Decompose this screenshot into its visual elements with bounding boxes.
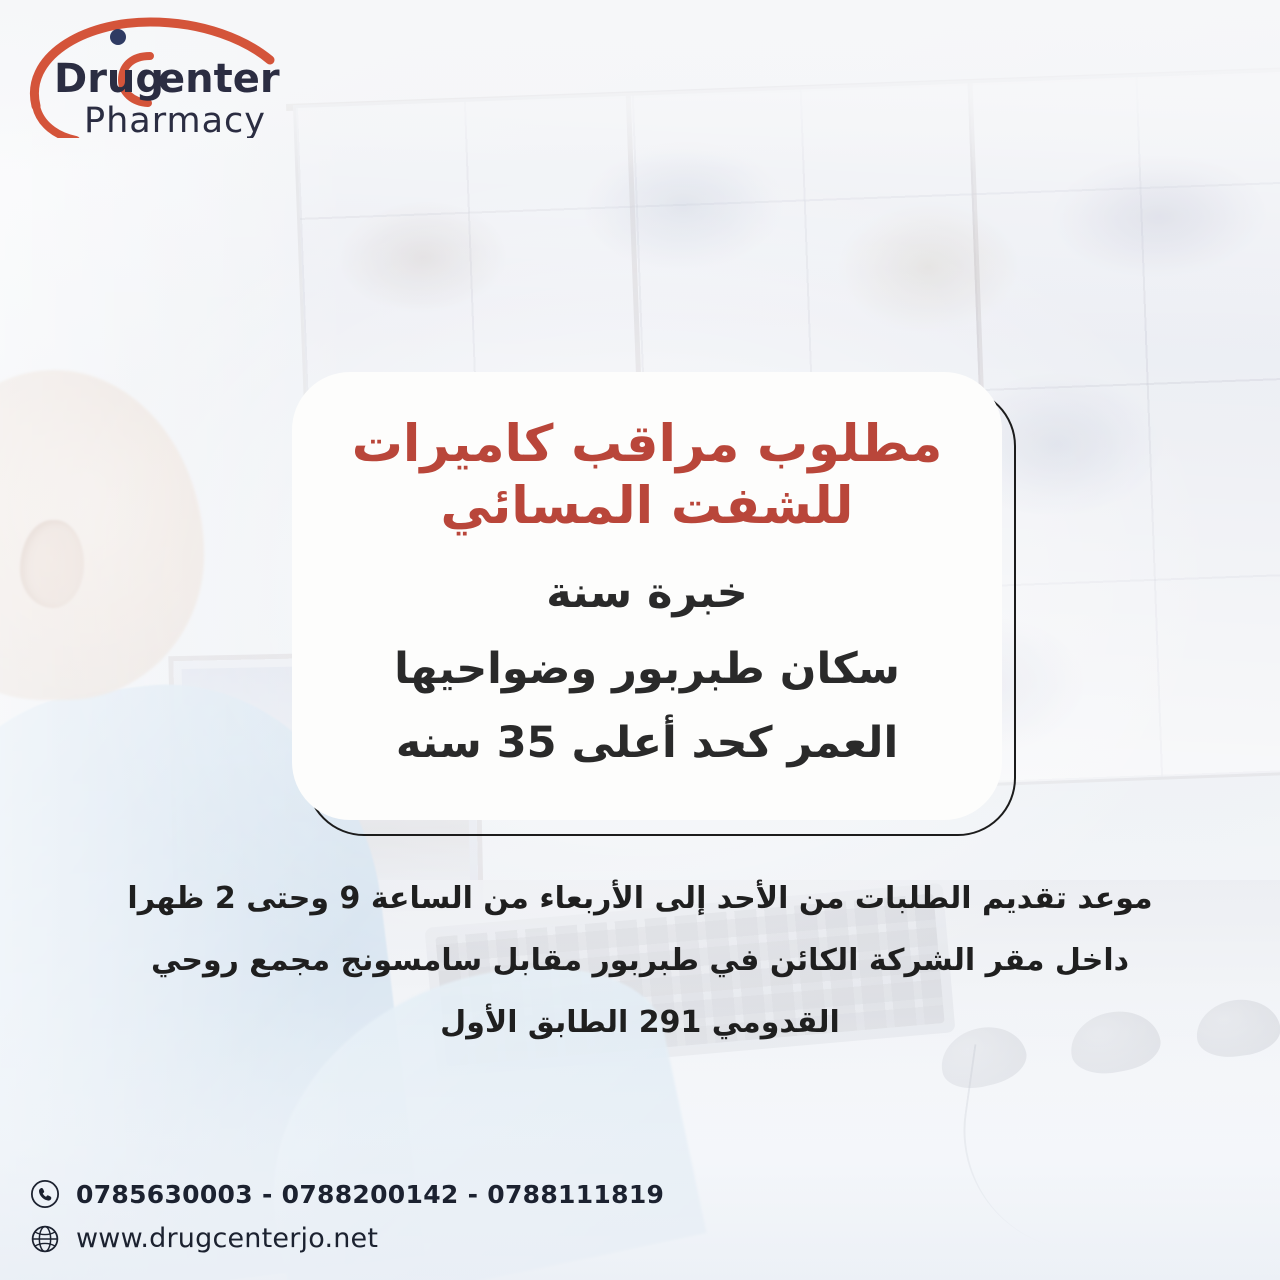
globe-icon	[30, 1224, 60, 1254]
requirement-age: العمر كحد أعلى 35 سنه	[396, 716, 898, 772]
announcement-card: مطلوب مراقب كاميرات للشفت المسائي خبرة س…	[292, 372, 1022, 840]
logo-word-center: enter	[158, 56, 280, 102]
headline-line-2: للشفت المسائي	[352, 476, 943, 538]
card-body: مطلوب مراقب كاميرات للشفت المسائي خبرة س…	[292, 372, 1002, 820]
logo-tagline: Pharmacy	[84, 101, 266, 138]
phone-numbers: 0785630003 - 0788200142 - 0788111819	[76, 1180, 664, 1209]
details-line-location: داخل مقر الشركة الكائن في طبربور مقابل س…	[70, 946, 1210, 976]
contact-footer: 0785630003 - 0788200142 - 0788111819 www…	[30, 1179, 664, 1254]
details-line-schedule: موعد تقديم الطلبات من الأحد إلى الأربعاء…	[70, 884, 1210, 914]
logo-word-drug: Drug	[54, 56, 164, 102]
poster: Drug enter Pharmacy مطلوب مراقب كاميرات …	[0, 0, 1280, 1280]
headline-line-1: مطلوب مراقب كاميرات	[352, 415, 943, 474]
phone-icon	[30, 1179, 60, 1209]
website-url: www.drugcenterjo.net	[76, 1223, 378, 1254]
contact-website-row[interactable]: www.drugcenterjo.net	[30, 1223, 664, 1254]
logo-dot-icon	[110, 29, 126, 45]
application-details: موعد تقديم الطلبات من الأحد إلى الأربعاء…	[70, 884, 1210, 1038]
card-headline: مطلوب مراقب كاميرات للشفت المسائي	[352, 414, 943, 538]
details-line-address: القدومي 291 الطابق الأول	[70, 1008, 1210, 1038]
contact-phone-row[interactable]: 0785630003 - 0788200142 - 0788111819	[30, 1179, 664, 1209]
brand-logo[interactable]: Drug enter Pharmacy	[18, 14, 286, 138]
logo-swoosh-tail	[36, 106, 76, 138]
requirement-residence: سكان طبربور وضواحيها	[394, 642, 900, 698]
requirement-experience: خبرة سنة	[546, 566, 748, 622]
